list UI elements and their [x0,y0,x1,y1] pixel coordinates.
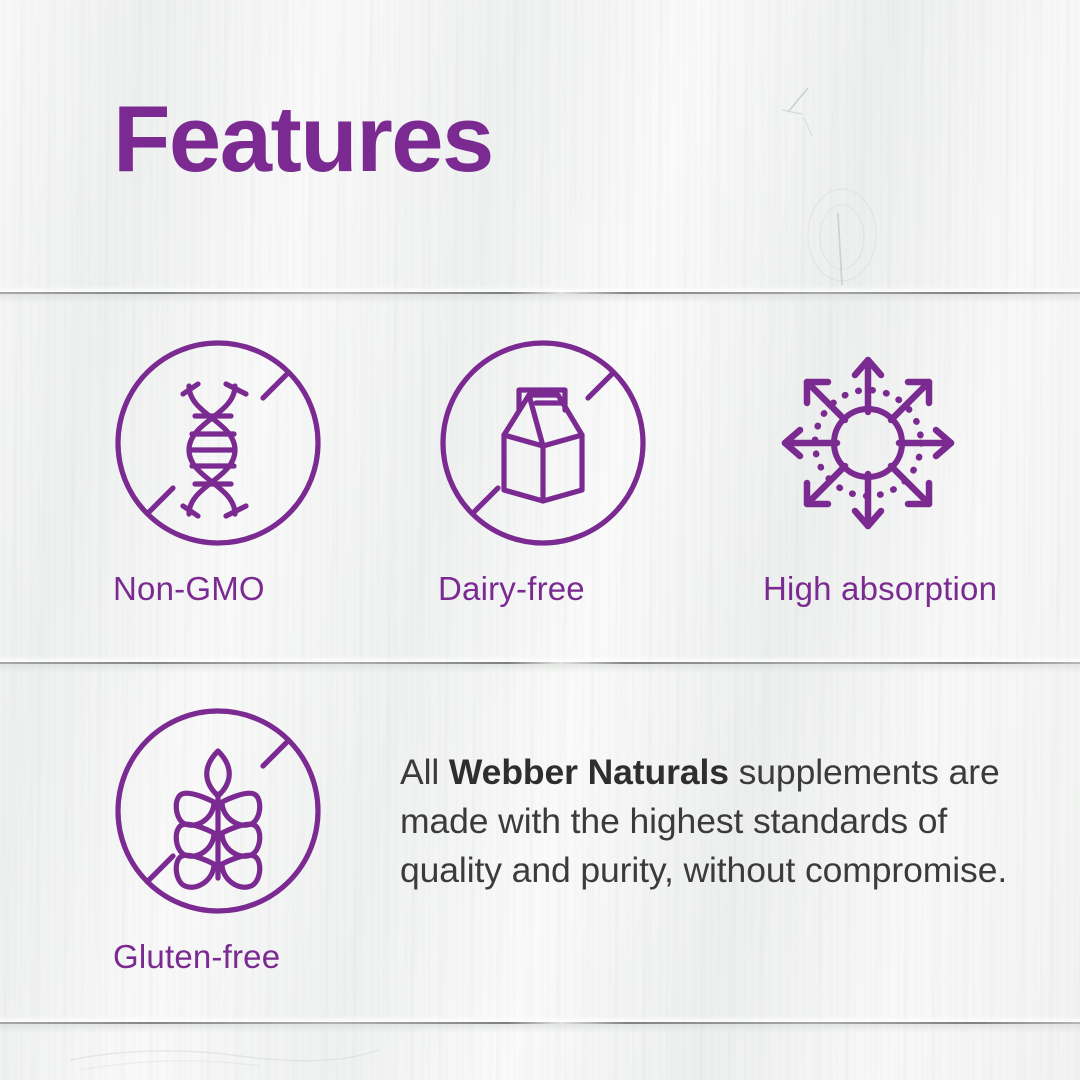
wood-grain-bottom-icon [60,1030,380,1080]
feature-label-high-absorption: High absorption [763,570,997,608]
wood-knot-secondary-icon [780,175,940,325]
brand-name: Webber Naturals [449,752,729,792]
body-copy: All Webber Naturals supplements are made… [400,748,1030,895]
body-copy-lead: All [400,752,449,792]
feature-label-dairy-free: Dairy-free [438,570,585,608]
dna-no-symbol-icon [113,338,323,548]
feature-label-gluten-free: Gluten-free [113,938,280,976]
feature-label-non-gmo: Non-GMO [113,570,265,608]
milk-carton-no-symbol-icon [438,338,648,548]
page-title: Features [113,92,493,186]
feature-panel: Features [0,0,1080,1080]
wheat-no-symbol-icon [113,706,323,916]
radiating-arrows-absorption-icon [763,338,973,548]
wood-knot-icon [760,60,900,180]
